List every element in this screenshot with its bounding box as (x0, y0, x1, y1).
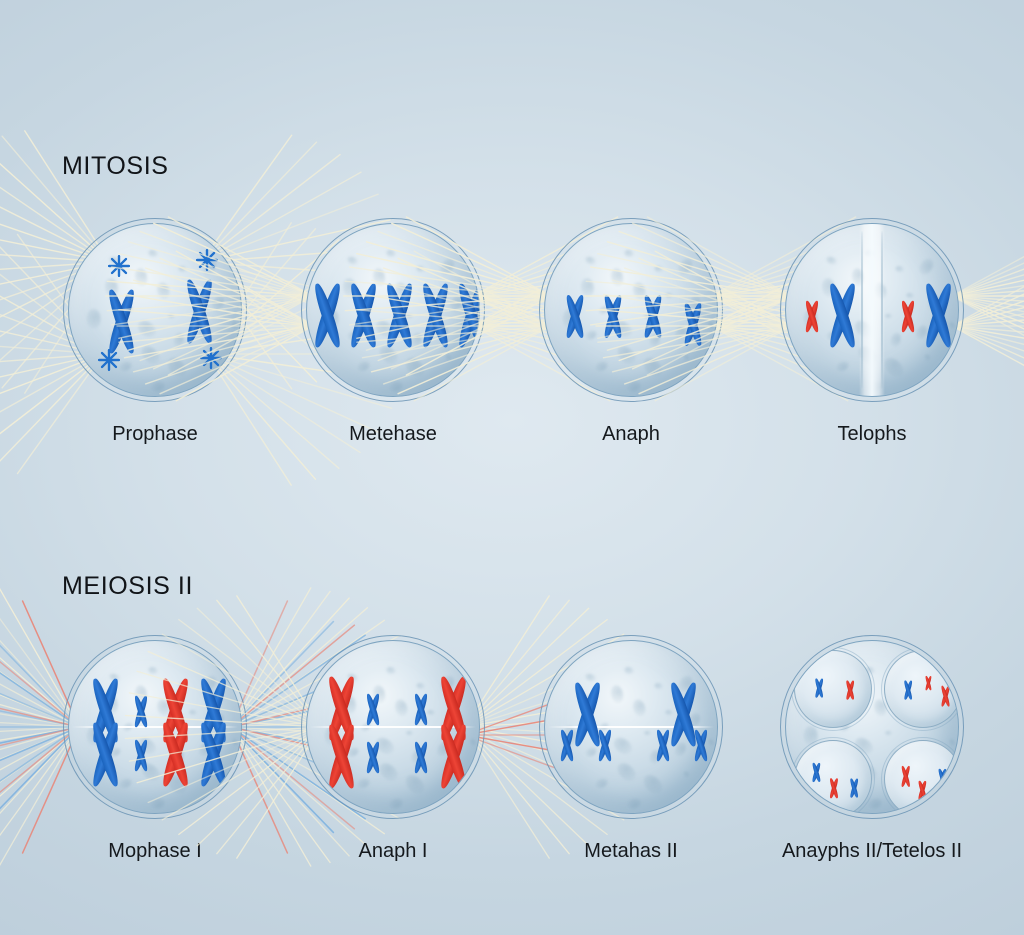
chromosome-blue (594, 729, 616, 761)
chromosome-blue (362, 693, 384, 725)
cytoplasm-speck (626, 380, 642, 393)
cell-anayphs-ii-tetelos-ii (780, 635, 964, 819)
chromosome-blue (560, 294, 590, 338)
daughter-cell (884, 740, 959, 814)
chromosome-red (827, 778, 841, 798)
chromosome-blue (901, 680, 915, 700)
daughter-cell (884, 650, 959, 728)
cell-telophs (780, 218, 964, 402)
cytoplasm-speck (388, 797, 404, 810)
chromosome-blue (130, 739, 152, 771)
chromosome-red (899, 765, 914, 786)
cytoplasm-speck (168, 314, 175, 319)
chromosome-blue (556, 729, 578, 761)
cytoplasm-speck (614, 343, 639, 368)
cytoplasm-speck (150, 797, 166, 810)
cytoplasm-speck (385, 666, 396, 675)
phase-label-anaph: Anaph (602, 423, 660, 446)
cytoplasm-speck (609, 267, 624, 287)
figure-canvas: MITOSIS MEIOSIS II ProphaseMetehaseAnaph… (0, 0, 1024, 935)
cytoplasm-speck (895, 265, 905, 273)
cytoplasm-speck (594, 359, 609, 372)
chromosome-blue (130, 695, 152, 727)
cytoplasm-speck (885, 731, 892, 736)
cytoplasm-speck (881, 355, 907, 381)
chromosome-blue (812, 678, 826, 698)
cytoplasm-speck (406, 731, 413, 736)
cytoplasm-speck (623, 249, 634, 258)
chromosome-blue (847, 778, 861, 798)
cytoplasm-speck (118, 359, 133, 372)
cytoplasm-speck (917, 257, 936, 278)
cytoplasm-speck (147, 249, 158, 258)
chromosome-red (319, 724, 363, 790)
cell-membrane-inner (785, 640, 959, 814)
chromosome-blue (820, 283, 864, 349)
chromosome-red (843, 680, 857, 700)
cytoplasm-speck (133, 267, 148, 287)
cytoplasm-speck (584, 255, 597, 266)
cytoplasm-speck (905, 293, 913, 299)
cytoplasm-speck (626, 797, 642, 810)
cytoplasm-speck (385, 249, 396, 258)
cytoplasm-speck (889, 331, 903, 347)
chromosome-red (923, 676, 933, 691)
cytoplasm-speck (150, 380, 166, 393)
chromosome-blue (83, 722, 127, 788)
cytoplasm-speck (631, 698, 647, 718)
chromosome-blue (809, 762, 822, 781)
cytoplasm-speck (155, 281, 171, 301)
daughter-cell-ring (791, 647, 875, 731)
chromosome-blue (99, 289, 143, 355)
cytoplasm-speck (623, 666, 634, 675)
centrosome-aster (98, 349, 120, 371)
daughter-cell-ring (791, 737, 875, 814)
cytoplasm-speck (835, 359, 850, 372)
cytoplasm-speck (147, 666, 158, 675)
phase-label-anaph-i: Anaph I (359, 840, 428, 863)
cytoplasm-speck (346, 255, 359, 266)
cytoplasm-speck (825, 255, 838, 266)
cytoplasm-speck (614, 760, 639, 785)
daughter-cell (794, 740, 872, 814)
chromosome-blue (362, 741, 384, 773)
phase-label-anayphs-ii-tetelos-ii: Anayphs II/Tetelos II (782, 840, 962, 863)
cytoplasm-speck (393, 698, 409, 718)
chromosome-blue (935, 768, 948, 787)
centrosome-aster (108, 255, 130, 277)
cell-membrane-inner (785, 223, 959, 397)
cytoplasm-speck (924, 354, 932, 362)
cytoplasm-speck (644, 731, 651, 736)
cytoplasm-speck (885, 314, 892, 319)
cytoplasm-speck (388, 380, 404, 393)
daughter-cell (794, 650, 872, 728)
chromosome-blue (598, 294, 628, 338)
phase-label-telophs: Telophs (838, 423, 907, 446)
chromosome-red (915, 780, 928, 799)
chromosome-red (939, 685, 954, 707)
cytoplasm-speck (594, 776, 609, 789)
chromosome-blue (916, 283, 959, 349)
cytoplasm-speck (356, 359, 371, 372)
cytoplasm-speck (609, 684, 624, 704)
furrow-edge-right (881, 231, 883, 389)
